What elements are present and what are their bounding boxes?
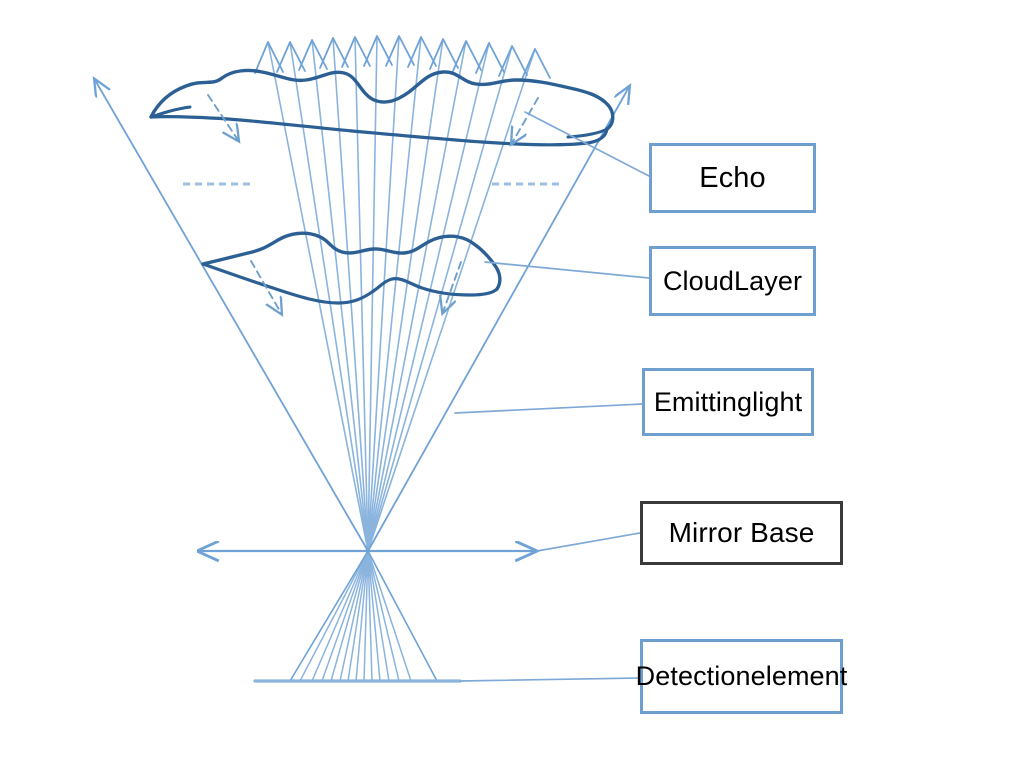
lidar-diagram-graphic [0, 0, 1009, 777]
leader-detection-element [460, 678, 640, 681]
label-box-emitting-light[interactable]: Emittinglight [642, 368, 814, 436]
label-line-layer: Layer [734, 266, 802, 296]
lower-cloud-dashed-arrows [251, 261, 461, 313]
emitted-beam-rays [268, 36, 535, 551]
ray-arrowhead-group [255, 36, 550, 79]
label-line-emitting: Emitting [654, 387, 752, 417]
label-leader-lines [455, 112, 649, 681]
upper-cloud-bottom-outline [151, 117, 607, 145]
leader-cloud-layer [485, 262, 649, 278]
label-line-element: element [751, 661, 848, 691]
label-line-light: light [752, 387, 802, 417]
leader-mirror-base [537, 533, 640, 551]
label-box-detection-element[interactable]: Detectionelement [640, 639, 843, 714]
upper-cloud-shape [151, 70, 613, 144]
cone-edge-left [95, 80, 368, 551]
label-box-echo[interactable]: Echo [649, 143, 816, 213]
label-box-mirror-base[interactable]: Mirror Base [640, 501, 843, 565]
label-line-detection: Detection [636, 661, 751, 691]
leader-emitting-light [455, 404, 642, 413]
diagram-canvas: Echo CloudLayer Emittinglight Mirror Bas… [0, 0, 1009, 777]
label-line-cloud: Cloud [663, 266, 734, 296]
label-box-cloud-layer[interactable]: CloudLayer [649, 246, 816, 316]
upper-cloud-top-outline [151, 70, 613, 129]
upper-cloud-dashed-arrows [208, 95, 538, 143]
